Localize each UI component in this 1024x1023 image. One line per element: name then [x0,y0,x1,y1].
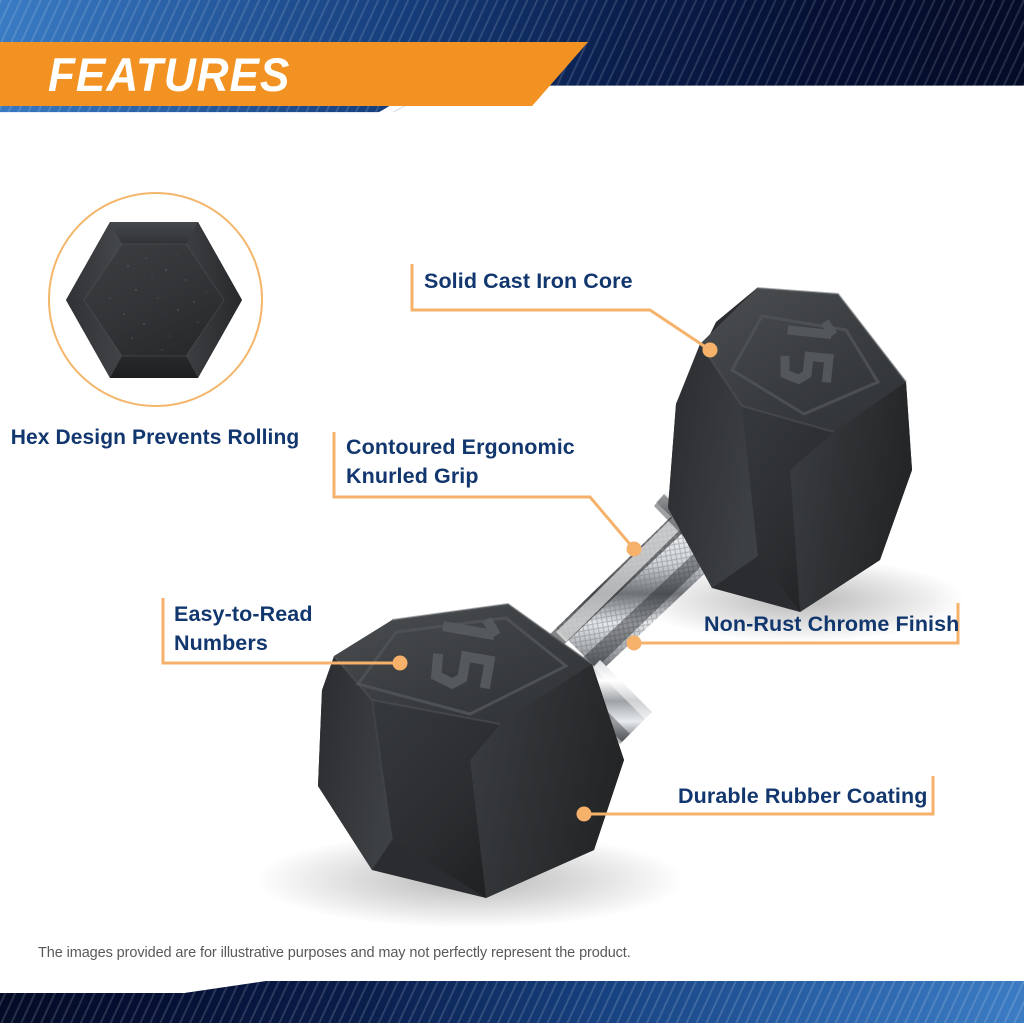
callout-durable-rubber-coating[interactable]: Durable Rubber Coating [678,782,927,811]
disclaimer-text: The images provided are for illustrative… [38,945,631,961]
dumbbell-product-image [0,0,1024,1023]
dot-solid-cast-iron-core [703,343,718,358]
handle-collar-bottom [568,660,652,744]
handle-collar-top [654,470,742,560]
dumbbell-head-lower [318,604,624,898]
hex-design-caption: Hex Design Prevents Rolling [0,424,310,452]
hex-end-view-image [66,218,242,382]
dot-easy-to-read-numbers [393,656,408,671]
callout-label: Solid Cast Iron Core [424,267,633,296]
callout-label: Non-Rust Chrome Finish [704,610,959,639]
callout-label: Easy-to-Read Numbers [174,600,313,658]
leader-end-dots [393,343,718,822]
infographic-canvas: FEATURES [0,0,1024,1023]
callout-label: Durable Rubber Coating [678,782,927,811]
footer-banner [0,981,1024,1023]
chrome-handle [546,470,742,744]
dot-durable-rubber-coating [577,807,592,822]
callout-label: Contoured Ergonomic Knurled Grip [346,433,575,491]
callout-solid-cast-iron-core[interactable]: Solid Cast Iron Core [424,267,633,296]
dot-knurled-grip [627,542,642,557]
weight-emboss-lower [358,612,566,714]
callout-easy-to-read-numbers[interactable]: Easy-to-Read Numbers [174,600,313,658]
callout-leader-lines [0,0,1024,1023]
features-title-band: FEATURES [0,42,588,106]
callout-contoured-ergonomic-knurled-grip[interactable]: Contoured Ergonomic Knurled Grip [346,433,575,491]
page-title: FEATURES [48,51,290,98]
callout-non-rust-chrome-finish[interactable]: Non-Rust Chrome Finish [704,610,959,639]
header-banner: FEATURES [0,0,1024,128]
dumbbell-head-upper [668,288,912,612]
dot-non-rust-chrome-finish [627,636,642,651]
weight-emboss-upper [732,316,878,414]
